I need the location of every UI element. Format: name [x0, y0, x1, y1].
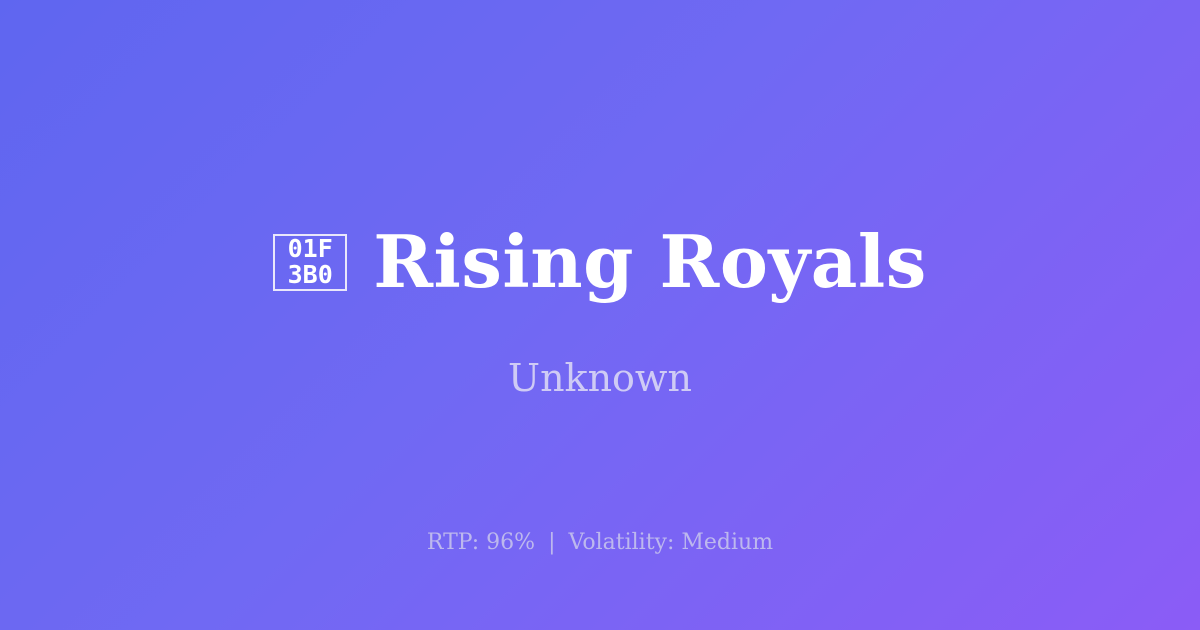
- subtitle: Unknown: [508, 358, 692, 400]
- meta-line: RTP: 96% | Volatility: Medium: [0, 530, 1200, 556]
- rtp-label: RTP: 96%: [427, 530, 535, 555]
- title-row: 01F 3B0 Rising Royals: [273, 224, 927, 300]
- tofu-codepoint-line2: 3B0: [288, 262, 333, 288]
- slot-machine-icon: 01F 3B0: [273, 234, 347, 291]
- page-title: Rising Royals: [373, 224, 927, 300]
- volatility-label: Volatility: Medium: [569, 530, 774, 555]
- meta-separator: |: [542, 530, 561, 555]
- tofu-codepoint-line1: 01F: [288, 236, 333, 262]
